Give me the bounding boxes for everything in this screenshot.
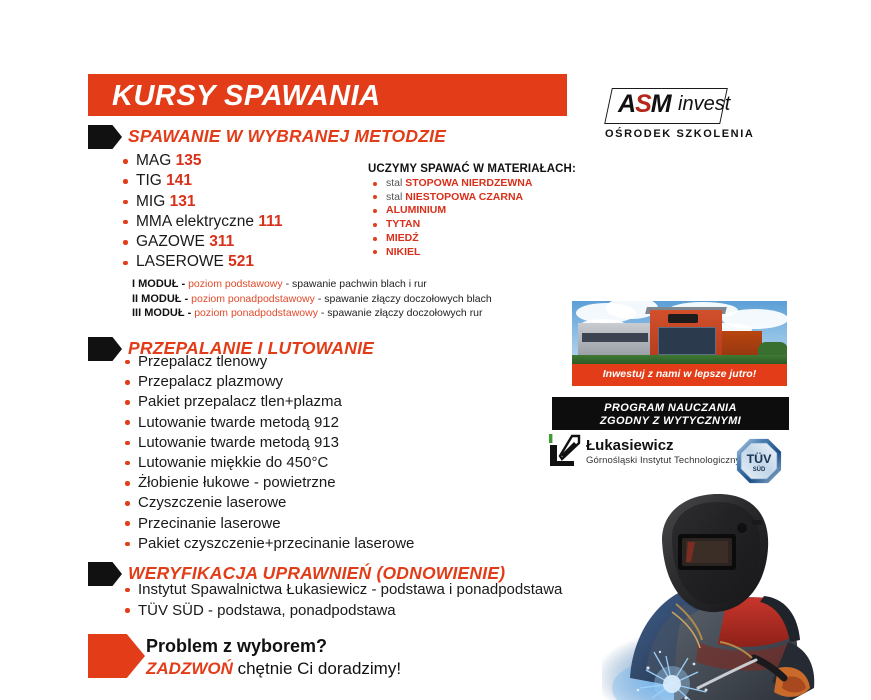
material-prefix: stal [386,177,405,189]
verification-list: Instytut Spawalnictwa Łukasiewicz - pods… [124,580,562,621]
material-name: ALUMINIUM [386,204,446,216]
module-row: II MODUŁ - poziom ponadpodstawowy - spaw… [132,292,492,307]
method-label: MIG [136,193,165,210]
logo-letter-s: S [635,90,651,118]
module-desc: - spawanie złączy doczołowych rur [321,307,483,319]
asm-invest-logo: ASM invest OŚRODEK SZKOLENIA [600,88,760,150]
materials-list: stal STOPOWA NIERDZEWNA stal NIESTOPOWA … [372,177,532,259]
list-item: GAZOWE 311 [122,232,282,252]
logo-invest-text: invest [678,93,730,116]
module-name: II MODUŁ - [132,293,188,305]
materials-heading: UCZYMY SPAWAĆ W MATERIAŁACH: [368,163,576,175]
method-code: 135 [176,152,202,169]
list-item: Czyszczenie laserowe [124,493,414,513]
list-item: Żłobienie łukowe - powietrzne [124,473,414,493]
method-label: MMA elektryczne [136,213,254,230]
cta-call-label: ZADZWOŃ [146,659,233,678]
section-title-methods: SPAWANIE W WYBRANEJ METODZIE [128,126,446,147]
tuv-bottom-text: SÜD [753,466,766,473]
list-item: MAG 135 [122,151,282,171]
poster-page: KURSY SPAWANIA ASM invest OŚRODEK SZKOLE… [0,0,871,700]
module-level: poziom podstawowy [188,278,283,290]
method-label: MAG [136,152,171,169]
module-row: III MODUŁ - poziom ponadpodstawowy - spa… [132,306,492,321]
logo-asm-text: ASM [618,90,671,119]
tuv-sud-badge-icon: TÜV SÜD [736,438,782,484]
list-item: stal STOPOWA NIERDZEWNA [372,177,532,191]
program-banner: PROGRAM NAUCZANIA ZGODNY Z WYTYCZNYMI [552,397,789,430]
method-code: 521 [228,253,254,270]
material-name: TYTAN [386,218,420,230]
building-windows [658,327,716,355]
method-code: 141 [166,172,192,189]
building-photo-card: Inwestuj z nami w lepsze jutro! [572,301,787,386]
lukasiewicz-logo: Łukasiewicz Górnośląski Instytut Technol… [548,434,748,482]
list-item: Pakiet czyszczenie+przecinanie laserowe [124,534,414,554]
lukasiewicz-institute: Górnośląski Instytut Technologiczny [586,455,740,466]
list-item: stal NIESTOPOWA CZARNA [372,191,532,205]
list-item: LASEROWE 521 [122,252,282,272]
module-level: poziom ponadpodstawowy [194,307,318,319]
module-name: I MODUŁ - [132,278,185,290]
list-item: Lutowanie twarde metodą 913 [124,433,414,453]
arrow-marker-icon [88,337,122,361]
method-code: 131 [170,193,196,210]
logo-subtitle: OŚRODEK SZKOLENIA [605,128,754,140]
material-name: NIESTOPOWA CZARNA [405,191,523,203]
list-item: Pakiet przepalacz tlen+plazma [124,392,414,412]
welder-photo [602,492,864,700]
modules-block: I MODUŁ - poziom podstawowy - spawanie p… [132,277,492,321]
list-item: MMA elektryczne 111 [122,212,282,232]
material-name: NIKIEL [386,246,420,258]
cta-arrow-icon [88,634,145,678]
method-code: 111 [258,213,282,230]
method-label: TIG [136,172,162,189]
list-item: ALUMINIUM [372,204,532,218]
material-prefix: stal [386,191,405,203]
lukasiewicz-name: Łukasiewicz [586,437,674,454]
module-desc: - spawanie złączy doczołowych blach [318,293,492,305]
building-banner-text: Inwestuj z nami w lepsze jutro! [572,368,787,380]
cta-action: ZADZWOŃ chętnie Ci doradzimy! [146,659,401,679]
material-name: STOPOWA NIERDZEWNA [405,177,532,189]
method-label: LASEROWE [136,253,224,270]
list-item: TIG 141 [122,171,282,191]
methods-list: MAG 135 TIG 141 MIG 131 MMA elektryczne … [122,151,282,273]
program-banner-line1: PROGRAM NAUCZANIA [552,402,789,414]
cta-rest: chętnie Ci doradzimy! [233,659,401,678]
building-banner: Inwestuj z nami w lepsze jutro! [572,364,787,386]
material-name: MIEDŹ [386,232,419,244]
list-item: MIEDŹ [372,232,532,246]
tuv-top-text: TÜV [747,451,773,466]
program-banner-line2: ZGODNY Z WYTYCZNYMI [552,415,789,427]
list-item: NIKIEL [372,246,532,260]
list-item: TYTAN [372,218,532,232]
module-desc: - spawanie pachwin blach i rur [286,278,427,290]
list-item: Przepalacz tlenowy [124,352,414,372]
page-title: KURSY SPAWANIA [112,80,381,113]
arrow-marker-icon [88,125,122,149]
burning-list: Przepalacz tlenowy Przepalacz plazmowy P… [124,352,414,554]
module-level: poziom ponadpodstawowy [191,293,315,305]
module-row: I MODUŁ - poziom podstawowy - spawanie p… [132,277,492,292]
list-item: MIG 131 [122,192,282,212]
arrow-marker-icon [88,562,122,586]
list-item: Lutowanie miękkie do 450°C [124,453,414,473]
module-name: III MODUŁ - [132,307,191,319]
building-photo [572,301,787,364]
method-code: 311 [209,233,234,250]
building-sign [668,314,698,323]
cta-question: Problem z wyborem? [146,636,327,657]
list-item: Instytut Spawalnictwa Łukasiewicz - pods… [124,580,562,601]
list-item: Przepalacz plazmowy [124,372,414,392]
list-item: Lutowanie twarde metodą 912 [124,413,414,433]
lukasiewicz-mark-icon [548,434,582,470]
logo-letter-m: M [651,90,671,118]
list-item: TÜV SÜD - podstawa, ponadpodstawa [124,601,562,622]
logo-letter-a: A [618,90,635,118]
method-label: GAZOWE [136,233,205,250]
list-item: Przecinanie laserowe [124,514,414,534]
